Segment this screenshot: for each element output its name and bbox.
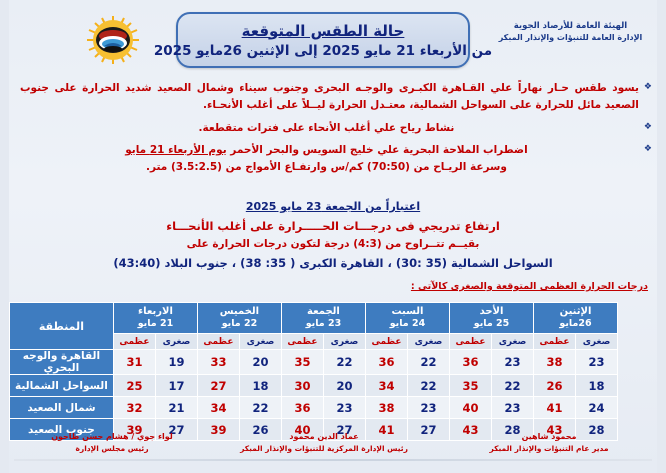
forecast-bullets: ❖ يسود طقس حـار نهاراً علي القـاهرة الكب… <box>14 80 652 182</box>
footer-divider <box>14 459 652 461</box>
signature-name: لواء جوي / هشام حسن طاحون <box>12 431 212 443</box>
day-header-sunday: الأحد 25 مايو <box>449 303 533 334</box>
temp-max: 31 <box>113 350 155 375</box>
max-label: عظمى <box>449 334 491 350</box>
bullet-item: ❖ اضطراب الملاحة البحرية علي خليج السويس… <box>14 142 652 177</box>
day-name: السبت <box>366 306 449 319</box>
temp-min: 22 <box>407 350 449 375</box>
notice-regional-values: السواحل الشمالية (35 :30) ، القاهرة الكب… <box>14 254 652 274</box>
temp-min: 23 <box>407 397 449 419</box>
temp-min: 19 <box>155 350 197 375</box>
temp-max: 34 <box>365 375 407 397</box>
marine-warning-date: يوم الأربعاء 21 مايو <box>125 144 226 156</box>
region-name: السواحل الشمالية <box>9 375 113 397</box>
temp-min: 23 <box>492 397 534 419</box>
title-banner: حالة الطقس المتوقعة من الأربعاء 21 مايو … <box>176 12 470 68</box>
table-row: 18 26 22 35 22 34 20 30 18 27 17 25 السو… <box>9 375 617 397</box>
day-date: 22 مايو <box>198 318 281 330</box>
temp-max: 38 <box>365 397 407 419</box>
day-header-saturday: السبت 24 مايو <box>365 303 449 334</box>
temp-min: 22 <box>407 375 449 397</box>
signature-forecast-director: محمود شاهين مدير عام التنبؤات والإنذار ا… <box>444 431 654 454</box>
temp-max: 36 <box>281 397 323 419</box>
day-header-monday: الإثنين 26مايو <box>534 303 618 334</box>
temp-max: 33 <box>197 350 239 375</box>
day-date: 21 مايو <box>114 318 197 330</box>
temperature-rise-notice: اعتباراً من الجمعة 23 مايو 2025 ارتفاع ت… <box>14 198 652 274</box>
temp-min: 23 <box>576 350 618 375</box>
temp-max: 34 <box>197 397 239 419</box>
min-label: صغرى <box>576 334 618 350</box>
temp-min: 18 <box>239 375 281 397</box>
egypt-meteorological-authority-logo <box>80 14 146 66</box>
document-header: الهيئة العامة للأرصاد الجوية الإدارة الع… <box>0 4 666 70</box>
bullet-item: ❖ يسود طقس حـار نهاراً علي القـاهرة الكب… <box>14 80 652 115</box>
temp-min: 23 <box>323 397 365 419</box>
day-date: 26مايو <box>534 318 617 330</box>
region-name: شمال الصعيد <box>9 397 113 419</box>
day-date: 25 مايو <box>450 318 533 330</box>
bullet-text-marine-warning: اضطراب الملاحة البحرية علي خليج السويس و… <box>14 142 639 177</box>
signature-name: عماد الدين محمود <box>214 431 434 443</box>
day-name: الجمعة <box>282 306 365 319</box>
day-name: الإثنين <box>534 306 617 319</box>
temp-max: 35 <box>449 375 491 397</box>
temp-min: 21 <box>155 397 197 419</box>
temp-max: 41 <box>534 397 576 419</box>
temp-max: 36 <box>449 350 491 375</box>
region-name: القاهرة والوجه البحري <box>9 350 113 375</box>
temp-min: 22 <box>323 350 365 375</box>
signature-central-administration-head: عماد الدين محمود رئيس الإدارة المركزية ل… <box>214 431 434 454</box>
signature-board-chairman: لواء جوي / هشام حسن طاحون رئيس مجلس الإد… <box>12 431 212 454</box>
diamond-bullet-icon: ❖ <box>644 122 652 132</box>
diamond-bullet-icon: ❖ <box>644 82 652 92</box>
temp-max: 38 <box>534 350 576 375</box>
day-header-thursday: الخميس 22 مايو <box>197 303 281 334</box>
table-caption: درجات الحرارة العظمى المتوقعة والصغرى كا… <box>411 281 648 292</box>
min-label: صغرى <box>323 334 365 350</box>
temp-max: 30 <box>281 375 323 397</box>
document-page: الهيئة العامة للأرصاد الجوية الإدارة الع… <box>0 0 666 473</box>
marine-warning-part2: وسرعة الريـاح من (70:50) كم/س وارتفـاع ا… <box>146 161 507 173</box>
temp-max: 27 <box>197 375 239 397</box>
organization-name: الهيئة العامة للأرصاد الجوية <box>483 20 658 32</box>
signature-role: مدير عام التنبؤات والإنذار المبكر <box>444 443 654 454</box>
day-date: 24 مايو <box>366 318 449 330</box>
temp-min: 18 <box>576 375 618 397</box>
temp-min: 20 <box>239 350 281 375</box>
region-column-header: المنطقة <box>9 303 113 350</box>
date-range-subtitle: من الأربعاء 21 مايو 2025 إلى الإثنين 26م… <box>154 43 492 59</box>
table-row: 24 41 23 40 23 38 23 36 22 34 21 32 شمال… <box>9 397 617 419</box>
temp-min: 17 <box>155 375 197 397</box>
max-label: عظمى <box>281 334 323 350</box>
temp-max: 26 <box>534 375 576 397</box>
bullet-item: ❖ نشاط رياح علي أغلب الأنحاء على فترات م… <box>14 120 652 137</box>
day-header-friday: الجمعة 23 مايو <box>281 303 365 334</box>
organization-block: الهيئة العامة للأرصاد الجوية الإدارة الع… <box>483 20 658 44</box>
marine-warning-part1: اضطراب الملاحة البحرية علي خليج السويس و… <box>227 144 528 156</box>
temp-min: 24 <box>576 397 618 419</box>
min-label: صغرى <box>407 334 449 350</box>
min-label: صغرى <box>155 334 197 350</box>
signature-name: محمود شاهين <box>444 431 654 443</box>
table-row: 23 38 23 36 22 36 22 35 20 33 19 31 القا… <box>9 350 617 375</box>
max-label: عظمى <box>197 334 239 350</box>
table-day-header-row: الإثنين 26مايو الأحد 25 مايو السبت 24 ما… <box>9 303 617 334</box>
page-right-margin <box>657 0 666 473</box>
organization-department: الإدارة العامة للتنبؤات والإنذار المبكر <box>483 32 658 44</box>
signature-role: رئيس الإدارة المركزية للتنبؤات والإنذار … <box>214 443 434 454</box>
notice-detail: بقيــم تتــراوح من (4:3) درجة لتكون درجا… <box>14 236 652 254</box>
document-footer: محمود شاهين مدير عام التنبؤات والإنذار ا… <box>0 431 666 465</box>
forecast-table-wrapper: الإثنين 26مايو الأحد 25 مايو السبت 24 ما… <box>10 302 618 441</box>
signature-role: رئيس مجلس الإدارة <box>12 443 212 454</box>
notice-effective-date: اعتباراً من الجمعة 23 مايو 2025 <box>14 198 652 217</box>
temp-max: 25 <box>113 375 155 397</box>
max-label: عظمى <box>113 334 155 350</box>
temp-min: 23 <box>492 350 534 375</box>
bullet-text-wind-activity: نشاط رياح علي أغلب الأنحاء على فترات متق… <box>14 120 639 137</box>
notice-headline: ارتفاع تدريجي فى درجـــات الحـــــرارة ع… <box>14 217 652 237</box>
temp-min: 20 <box>323 375 365 397</box>
page-title: حالة الطقس المتوقعة <box>242 22 405 40</box>
temp-max: 35 <box>281 350 323 375</box>
day-name: الخميس <box>198 306 281 319</box>
day-name: الاربعاء <box>114 306 197 319</box>
max-label: عظمى <box>534 334 576 350</box>
min-label: صغرى <box>492 334 534 350</box>
temperature-forecast-table: الإثنين 26مايو الأحد 25 مايو السبت 24 ما… <box>9 302 618 441</box>
day-name: الأحد <box>450 306 533 319</box>
day-date: 23 مايو <box>282 318 365 330</box>
temp-min: 22 <box>239 397 281 419</box>
diamond-bullet-icon: ❖ <box>644 144 652 154</box>
max-label: عظمى <box>365 334 407 350</box>
temp-max: 36 <box>365 350 407 375</box>
min-label: صغرى <box>239 334 281 350</box>
temp-max: 32 <box>113 397 155 419</box>
bullet-text-weather-general: يسود طقس حـار نهاراً علي القـاهرة الكبـر… <box>14 80 639 115</box>
temp-min: 22 <box>492 375 534 397</box>
day-header-wednesday: الاربعاء 21 مايو <box>113 303 197 334</box>
temp-max: 40 <box>449 397 491 419</box>
page-left-margin <box>0 0 9 473</box>
